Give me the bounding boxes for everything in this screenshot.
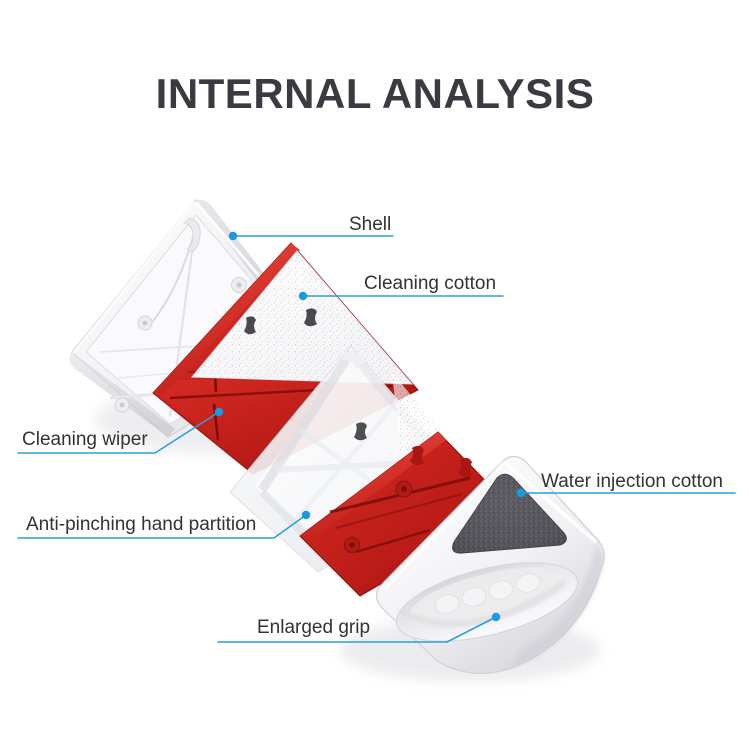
product-exploded-view-page: INTERNAL ANALYSIS — [0, 0, 750, 746]
callout-label-cleaning-wiper[interactable]: Cleaning wiper — [22, 430, 148, 449]
callout-label-anti-pinching-hand-partition[interactable]: Anti-pinching hand partition — [26, 515, 256, 534]
callout-label-water-injection-cotton[interactable]: Water injection cotton — [541, 472, 723, 491]
callout-label-enlarged-grip[interactable]: Enlarged grip — [257, 618, 370, 637]
product-illustration — [0, 0, 750, 746]
callout-label-shell[interactable]: Shell — [349, 215, 391, 234]
callout-label-cleaning-cotton[interactable]: Cleaning cotton — [364, 274, 496, 293]
